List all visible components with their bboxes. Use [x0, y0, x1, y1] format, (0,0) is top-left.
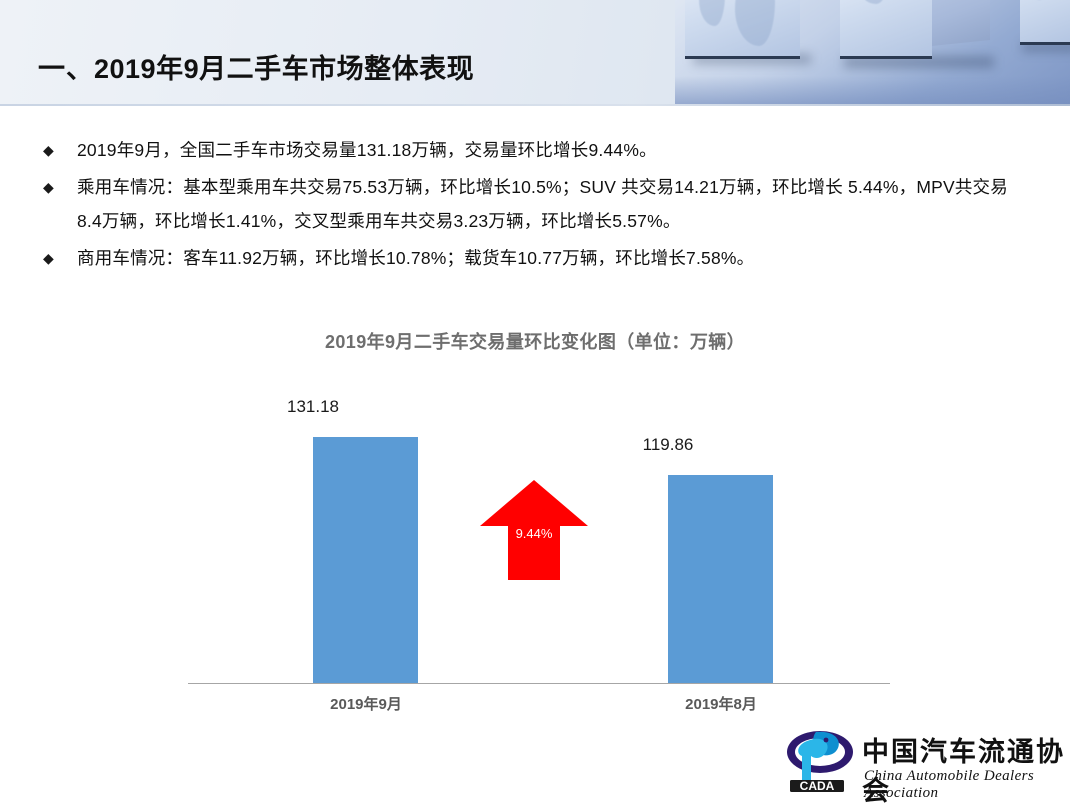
- diamond-bullet-icon: ◆: [40, 241, 77, 275]
- x-axis-label-2019-09: 2019年9月: [266, 693, 466, 714]
- bar-chart: 2019年9月二手车交易量环比变化图（单位：万辆） 131.18 119.86 …: [0, 318, 1070, 738]
- growth-rate-label: 9.44%: [480, 526, 588, 541]
- list-item-text: 2019年9月，全国二手车市场交易量131.18万辆，交易量环比增长9.44%。: [77, 133, 1025, 167]
- header-decoration-image: [675, 0, 1070, 106]
- list-item: ◆ 商用车情况：客车11.92万辆，环比增长10.78%；载货车10.77万辆，…: [40, 241, 1025, 275]
- bar-2019-09[interactable]: [313, 437, 418, 683]
- list-item: ◆ 乘用车情况：基本型乘用车共交易75.53万辆，环比增长10.5%；SUV 共…: [40, 170, 1025, 238]
- cada-logo-mark: CADA: [786, 726, 858, 792]
- page-title-number: 一、: [38, 47, 94, 86]
- page-title-text: 2019年9月二手车市场整体表现: [94, 47, 474, 86]
- cada-logo: CADA 中国汽车流通协会 China Automobile Dealers A…: [786, 724, 1066, 796]
- list-item-line: 商用车情况：客车11.92万辆，环比增长10.78%；载货车10.77万辆，环比…: [77, 248, 754, 268]
- list-item: ◆ 2019年9月，全国二手车市场交易量131.18万辆，交易量环比增长9.44…: [40, 133, 1025, 167]
- slide-header: 一、 2019年9月二手车市场整体表现: [0, 0, 1070, 106]
- bar-value-label: 119.86: [588, 435, 748, 455]
- decorative-cube-3: [1020, 0, 1070, 76]
- page-title: 一、 2019年9月二手车市场整体表现: [38, 47, 474, 86]
- growth-arrow-annotation: 9.44%: [480, 480, 588, 580]
- list-item-line: 乘用车情况：基本型乘用车共交易75.53万辆，环比增长10.5%；SUV 共交易…: [77, 177, 843, 197]
- chart-title: 2019年9月二手车交易量环比变化图（单位：万辆）: [0, 328, 1070, 354]
- bar-value-label: 131.18: [233, 397, 393, 417]
- diamond-bullet-icon: ◆: [40, 170, 77, 204]
- bullet-list: ◆ 2019年9月，全国二手车市场交易量131.18万辆，交易量环比增长9.44…: [40, 133, 1025, 278]
- logo-english-name: China Automobile Dealers Association: [864, 768, 1066, 802]
- list-item-line: 2019年9月，全国二手车市场交易量131.18万辆，交易量环比增长9.44%。: [77, 140, 657, 160]
- header-divider: [0, 104, 1070, 106]
- x-axis-line: [188, 683, 890, 684]
- diamond-bullet-icon: ◆: [40, 133, 77, 167]
- x-axis-label-2019-08: 2019年8月: [621, 693, 821, 714]
- cada-acronym: CADA: [800, 779, 835, 792]
- list-item-text: 商用车情况：客车11.92万辆，环比增长10.78%；载货车10.77万辆，环比…: [77, 241, 1025, 275]
- bar-2019-08[interactable]: [668, 475, 773, 683]
- list-item-text: 乘用车情况：基本型乘用车共交易75.53万辆，环比增长10.5%；SUV 共交易…: [77, 170, 1025, 238]
- decoration-floor: [675, 76, 1070, 106]
- decorative-cube-1: [685, 0, 805, 86]
- chart-plot-area: 131.18 119.86 9.44% 2019年9月 2019年8月: [188, 378, 890, 684]
